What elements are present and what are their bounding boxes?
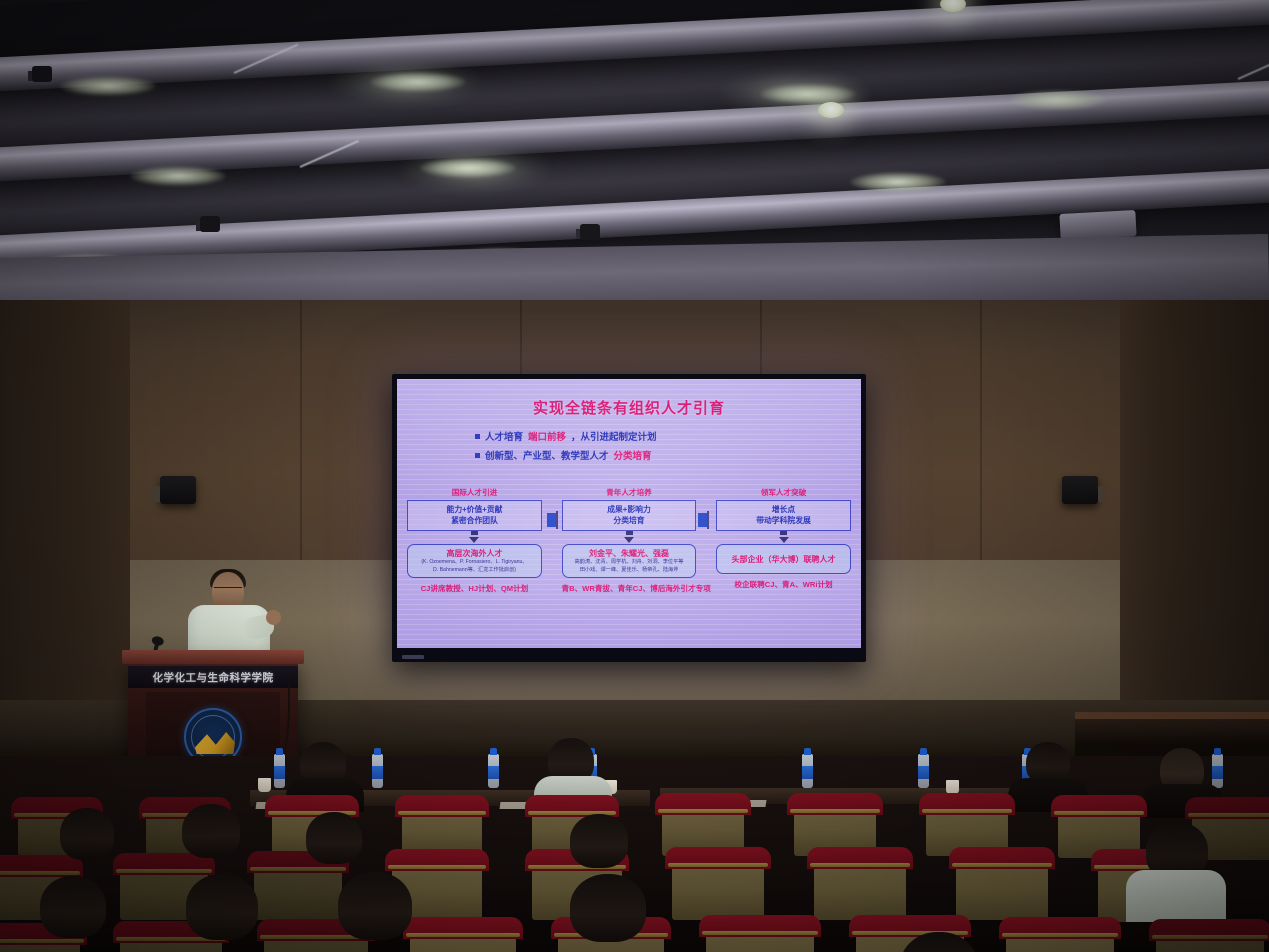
- light-glow: [720, 70, 870, 116]
- audience-shoulders: [1126, 870, 1226, 922]
- water-bottle: [918, 754, 929, 788]
- ceiling-camera-icon: [200, 216, 220, 232]
- arrow-stem: [626, 531, 633, 535]
- slide-title: 实现全链条有组织人才引育: [411, 397, 847, 418]
- column-footnote: 校企联聘CJ、青A、WRi计划: [716, 579, 851, 590]
- down-arrow-icon: [624, 537, 634, 543]
- wall-right-panel: [1120, 300, 1269, 730]
- column-top-box: 成果+影响力 分类培育: [562, 500, 697, 531]
- column-top-box: 能力+价值+贡献 紧密合作团队: [407, 500, 542, 531]
- audience-head: [570, 814, 628, 868]
- ceiling-camera-icon: [32, 66, 52, 82]
- bottom-box-title: 刘金平、朱耀光、强磊: [566, 548, 693, 559]
- column-heading: 领军人才突破: [716, 487, 851, 498]
- diagram-column: 国际人才引进 能力+价值+贡献 紧密合作团队 高层次海外人才 (K. Ozoem…: [407, 487, 542, 594]
- ceiling-light: [850, 172, 946, 192]
- water-bottle: [274, 754, 285, 788]
- column-heading: 国际人才引进: [407, 487, 542, 498]
- bottom-box-sub: 田小戏、谭一峰、夏佳乐、杨帝孔、陆海斧: [566, 567, 693, 575]
- wall-speaker-icon: [1062, 476, 1098, 504]
- audience-head: [338, 872, 412, 940]
- audience-head: [186, 874, 258, 940]
- diagram-column: 青年人才培养 成果+影响力 分类培育 刘金平、朱耀光、强磊 高韵涛、沈青、周学杭…: [562, 487, 697, 594]
- flow-connector: [698, 513, 710, 528]
- seat: [672, 854, 764, 920]
- seat: [706, 922, 814, 952]
- water-bottle: [802, 754, 813, 788]
- audience-head: [306, 812, 362, 864]
- wall-speaker-icon: [160, 476, 196, 504]
- screen-surface: 实现全链条有组织人才引育 人才培育端口前移，从引进起制定计划 创新型、产业型、教…: [397, 379, 861, 648]
- seat: [814, 854, 906, 920]
- column-bottom-box: 刘金平、朱耀光、强磊 高韵涛、沈青、周学杭、刘舟、刘洞、李位平等 田小戏、谭一峰…: [562, 544, 697, 579]
- column-heading: 青年人才培养: [562, 487, 697, 498]
- arrow-stem: [780, 531, 787, 535]
- document-on-desk: [500, 802, 527, 809]
- audience-head: [182, 804, 240, 858]
- audience-area: [0, 756, 1269, 952]
- ceiling-projector: [580, 224, 600, 240]
- presentation-display[interactable]: 实现全链条有组织人才引育 人才培育端口前移，从引进起制定计划 创新型、产业型、教…: [392, 374, 866, 662]
- column-bottom-box: 头部企业（华大博）联聘人才: [716, 544, 851, 574]
- audience-head: [60, 808, 114, 860]
- glasses-icon: [214, 587, 242, 593]
- podium-sign-text: 化学化工与生命科学学院: [153, 670, 274, 685]
- top-box-line: 带动学科院发展: [719, 515, 848, 526]
- ceiling-light: [1010, 90, 1106, 110]
- bullet-square-icon: [475, 434, 480, 439]
- podium-top-surface: [122, 650, 304, 664]
- water-bottle: [488, 754, 499, 788]
- column-top-box: 增长点 带动学科院发展: [716, 500, 851, 531]
- bullet-square-icon: [475, 453, 480, 458]
- slide: 实现全链条有组织人才引育 人才培育端口前移，从引进起制定计划 创新型、产业型、教…: [397, 379, 861, 648]
- water-bottle: [372, 754, 383, 788]
- water-bottle: [1212, 754, 1223, 788]
- bottom-box-sub: D. Bahnemann等、汇龙工作批启创): [411, 567, 538, 575]
- down-arrow-icon: [779, 537, 789, 543]
- bottom-box-title: 高层次海外人才: [411, 548, 538, 559]
- bottom-box-title: 头部企业（华大博）联聘人才: [720, 554, 847, 565]
- seat: [956, 854, 1048, 920]
- column-footnote: CJ讲席教授、HJ计划、QM计划: [407, 583, 542, 594]
- light-glow: [400, 146, 550, 192]
- bottom-box-sub: (K. Ozoemena、P. Fornasiero、L. Tigiryanu、: [411, 559, 538, 567]
- column-bottom-box: 高层次海外人才 (K. Ozoemena、P. Fornasiero、L. Ti…: [407, 544, 542, 579]
- seat: [402, 802, 482, 856]
- audience-head: [40, 876, 106, 938]
- audience-head: [570, 874, 646, 942]
- slide-bullets: 人才培育端口前移，从引进起制定计划 创新型、产业型、教学型人才分类培育: [475, 429, 847, 462]
- ceiling-vent: [1059, 210, 1136, 240]
- bullet-item: 人才培育端口前移，从引进起制定计划: [475, 429, 847, 443]
- bullet-text-pre: 人才培育: [485, 429, 523, 443]
- top-box-line: 能力+价值+贡献: [410, 504, 539, 515]
- bullet-text-highlight: 分类培育: [614, 448, 652, 462]
- top-box-line: 紧密合作团队: [410, 515, 539, 526]
- column-footnote: 青B、WR青拔、青年CJ、博后海外引才专项: [562, 583, 697, 594]
- paper-cup: [258, 778, 271, 792]
- flow-connector: [547, 513, 559, 528]
- seat: [254, 858, 342, 920]
- paper-cup: [946, 780, 959, 794]
- ceiling-light: [130, 166, 226, 186]
- presenter-hand: [266, 610, 281, 625]
- diagram-column: 领军人才突破 增长点 带动学科院发展 头部企业（华大博）联聘人才 校企联聘CJ、…: [716, 487, 851, 590]
- seat: [1006, 924, 1114, 952]
- display-brand-mark: [402, 655, 424, 659]
- ceiling-light: [60, 76, 156, 96]
- light-glow: [330, 60, 480, 106]
- seat: [410, 924, 516, 952]
- top-box-line: 分类培育: [565, 515, 694, 526]
- top-box-line: 成果+影响力: [565, 504, 694, 515]
- bullet-text-post: ，从引进起制定计划: [571, 429, 657, 443]
- top-box-line: 增长点: [719, 504, 848, 515]
- arrow-stem: [471, 531, 478, 535]
- down-arrow-icon: [469, 537, 479, 543]
- bullet-item: 创新型、产业型、教学型人才分类培育: [475, 448, 847, 462]
- lecture-hall-photo: 实现全链条有组织人才引育 人才培育端口前移，从引进起制定计划 创新型、产业型、教…: [0, 0, 1269, 952]
- slide-diagram: 国际人才引进 能力+价值+贡献 紧密合作团队 高层次海外人才 (K. Ozoem…: [407, 487, 851, 594]
- bottom-box-sub: 高韵涛、沈青、周学杭、刘舟、刘洞、李位平等: [566, 559, 693, 567]
- seat: [1156, 926, 1264, 952]
- wall-left-panel: [0, 300, 130, 730]
- bullet-text-pre: 创新型、产业型、教学型人才: [485, 448, 609, 462]
- bullet-text-highlight: 端口前移: [528, 429, 566, 443]
